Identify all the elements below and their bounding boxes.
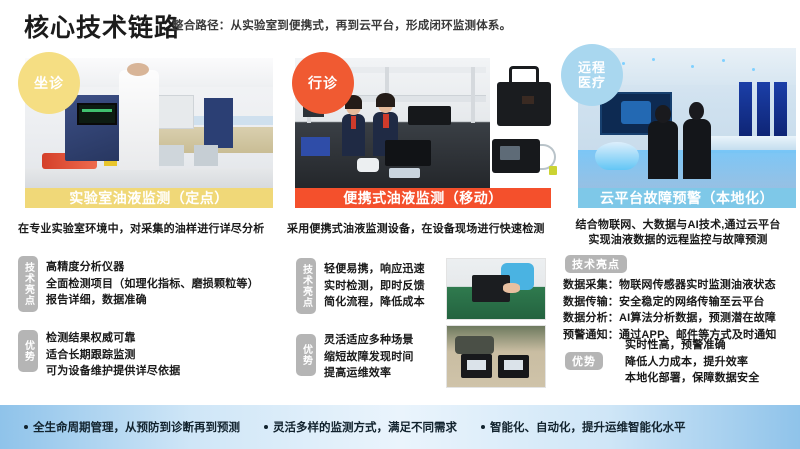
- badge-cloud-line2: 医疗: [578, 75, 606, 90]
- caption-portable: 便携式油液监测（移动）: [295, 188, 551, 208]
- bullet-dot-icon: [24, 425, 28, 429]
- footer-item-2: 灵活多样的监测方式，满足不同需求: [264, 419, 457, 435]
- list-item: 全面检测项目（如理化指标、磨损颗粒等）: [46, 276, 259, 293]
- list-lab-advantages: 检测结果权威可靠 适合长期跟踪监测 可为设备维护提供详尽依据: [46, 330, 180, 380]
- portable-field-photo-2: [446, 325, 546, 388]
- description-cloud: 结合物联网、大数据与AI技术,通过云平台 实现油液数据的远程监控与故障预测: [556, 218, 800, 248]
- description-portable: 采用便携式油液监测设备，在设备现场进行快速检测: [287, 222, 557, 237]
- caption-lab: 实验室油液监测（定点）: [25, 188, 273, 208]
- list-item: 提高运维效率: [324, 365, 414, 382]
- list-item: 实时检测，即时反馈: [324, 278, 425, 295]
- list-item: 高精度分析仪器: [46, 259, 259, 276]
- footer-bar: 全生命周期管理，从预防到诊断再到预测 灵活多样的监测方式，满足不同需求 智能化、…: [0, 405, 800, 449]
- list-cloud-advantages: 实时性高，预警准确 降低人力成本，提升效率 本地化部署，保障数据安全: [625, 337, 759, 387]
- badge-cloud-line1: 远程: [578, 60, 606, 75]
- tag-cloud-advantages: 优势: [565, 352, 603, 370]
- list-item: 灵活适应多种场景: [324, 332, 414, 349]
- bullet-dot-icon: [264, 425, 268, 429]
- list-cloud-highlights: 数据采集：物联网传感器实时监测油液状态 数据传输：安全稳定的网络传输至云平台 数…: [563, 277, 777, 343]
- list-item: 本地化部署，保障数据安全: [625, 370, 759, 387]
- list-portable-advantages: 灵活适应多种场景 缩短故障发现时间 提高运维效率: [324, 332, 414, 382]
- list-item: 数据分析：AI算法分析数据，预测潜在故障: [563, 310, 777, 327]
- list-item: 检测结果权威可靠: [46, 330, 180, 347]
- list-item: 适合长期跟踪监测: [46, 347, 180, 364]
- footer-item-label: 灵活多样的监测方式，满足不同需求: [273, 419, 457, 435]
- description-cloud-line1: 结合物联网、大数据与AI技术,通过云平台: [556, 218, 800, 233]
- caption-cloud: 云平台故障预警（本地化）: [578, 188, 796, 208]
- footer-item-label: 全生命周期管理，从预防到诊断再到预测: [33, 419, 240, 435]
- list-item: 轻便易携，响应迅速: [324, 261, 425, 278]
- bullet-dot-icon: [481, 425, 485, 429]
- description-cloud-line2: 实现油液数据的远程监控与故障预测: [556, 233, 800, 248]
- list-item: 实时性高，预警准确: [625, 337, 759, 354]
- portable-field-photo-1: [446, 258, 546, 320]
- badge-cloud: 远程 医疗: [561, 44, 623, 106]
- footer-item-1: 全生命周期管理，从预防到诊断再到预测: [24, 419, 240, 435]
- page-title: 核心技术链路: [24, 8, 180, 44]
- list-item: 可为设备维护提供详尽依据: [46, 363, 180, 380]
- tag-portable-advantages: 优势: [296, 334, 316, 376]
- list-item: 报告详细，数据准确: [46, 292, 259, 309]
- list-portable-highlights: 轻便易携，响应迅速 实时检测，即时反馈 简化流程，降低成本: [324, 261, 425, 311]
- tag-portable-highlights: 技术亮点: [296, 258, 316, 314]
- page-header: 核心技术链路 整合路径：从实验室到便携式，再到云平台，形成闭环监测体系。: [0, 0, 800, 46]
- list-lab-highlights: 高精度分析仪器 全面检测项目（如理化指标、磨损颗粒等） 报告详细，数据准确: [46, 259, 259, 309]
- list-item: 简化流程，降低成本: [324, 294, 425, 311]
- footer-item-3: 智能化、自动化，提升运维智能化水平: [481, 419, 686, 435]
- tag-lab-highlights: 技术亮点: [18, 256, 38, 312]
- badge-portable: 行诊: [292, 52, 354, 114]
- list-item: 数据采集：物联网传感器实时监测油液状态: [563, 277, 777, 294]
- page-subtitle: 整合路径：从实验室到便携式，再到云平台，形成闭环监测体系。: [172, 17, 511, 33]
- tag-cloud-highlights: 技术亮点: [565, 255, 627, 273]
- tag-lab-advantages: 优势: [18, 330, 38, 372]
- list-item: 数据传输：安全稳定的网络传输至云平台: [563, 294, 777, 311]
- list-item: 降低人力成本，提升效率: [625, 354, 759, 371]
- description-lab: 在专业实验室环境中，对采集的油样进行详尽分析: [18, 222, 280, 237]
- footer-item-label: 智能化、自动化，提升运维智能化水平: [490, 419, 686, 435]
- badge-lab: 坐诊: [18, 52, 80, 114]
- list-item: 缩短故障发现时间: [324, 349, 414, 366]
